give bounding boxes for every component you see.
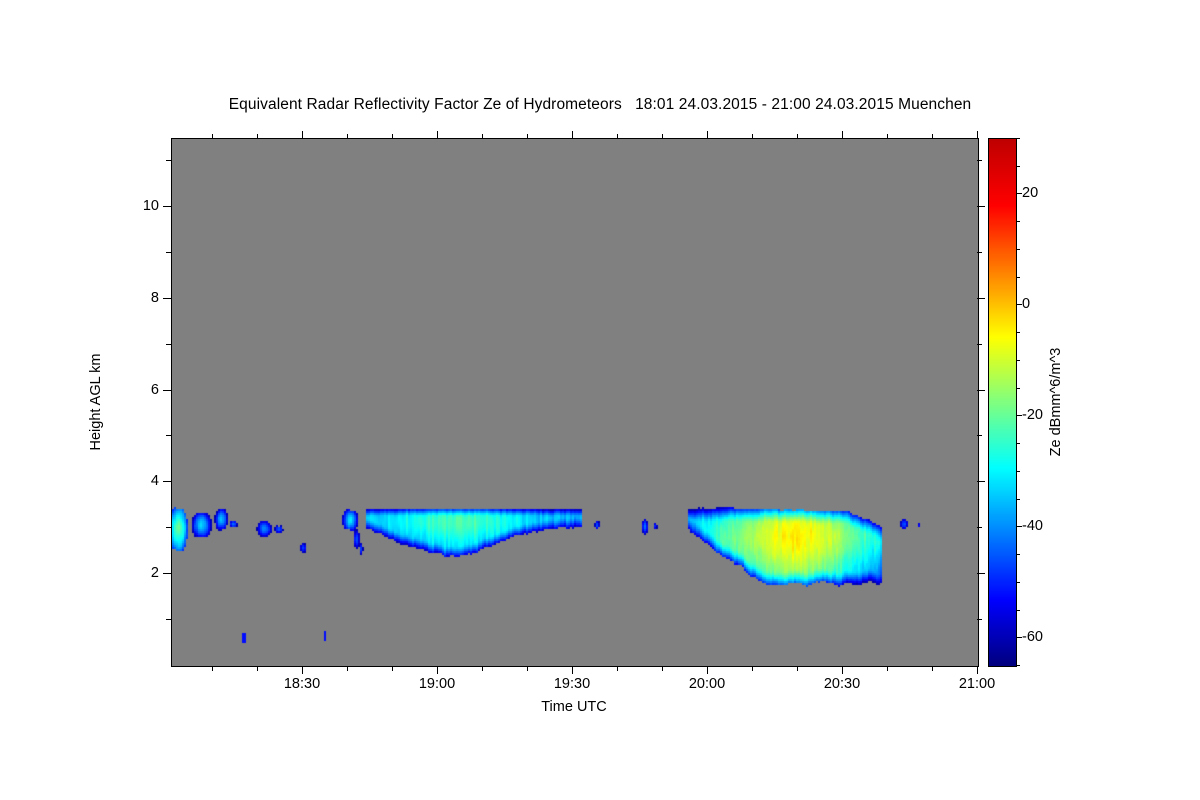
x-tick-minor-top [752,134,753,139]
colorbar-tick-minor [1016,138,1020,139]
colorbar-tick-label: -60 [1022,629,1043,645]
colorbar-tick-minor [1016,610,1020,611]
y-tick-minor-right [977,435,982,436]
y-tick-label: 8 [151,290,159,306]
colorbar-gradient [989,139,1016,666]
x-tick-minor [392,666,393,671]
y-tick-label: 6 [151,382,159,398]
x-tick-label: 19:30 [554,676,590,692]
y-tick-minor [166,344,171,345]
x-tick-label: 21:00 [959,676,995,692]
y-tick-label: 10 [143,198,159,214]
x-tick-minor [347,666,348,671]
reflectivity-heatmap [172,139,978,666]
x-tick-minor [932,666,933,671]
colorbar-tick-minor [1016,277,1020,278]
colorbar-tick-label: 0 [1022,296,1030,312]
y-tick-minor [166,435,171,436]
colorbar-tick-minor [1016,554,1020,555]
x-tick-minor-top [797,134,798,139]
x-tick-major [302,666,303,674]
x-tick-major [572,666,573,674]
y-tick-major-right [977,206,985,207]
y-tick-minor-right [977,160,982,161]
x-tick-minor [752,666,753,671]
x-tick-minor [257,666,258,671]
x-tick-minor [482,666,483,671]
x-tick-label: 20:00 [689,676,725,692]
x-tick-label: 19:00 [419,676,455,692]
x-tick-minor [617,666,618,671]
colorbar-tick-minor [1016,582,1020,583]
x-tick-major-top [437,131,438,139]
colorbar-tick-label: 20 [1022,185,1038,201]
x-tick-major [977,666,978,674]
colorbar-tick-minor [1016,443,1020,444]
x-tick-major-top [707,131,708,139]
x-tick-minor-top [527,134,528,139]
x-tick-major [842,666,843,674]
x-tick-minor-top [662,134,663,139]
y-tick-major-right [977,481,985,482]
x-tick-minor [797,666,798,671]
x-tick-label: 18:30 [284,676,320,692]
y-tick-minor-right [977,527,982,528]
y-tick-major [163,481,171,482]
y-tick-label: 2 [151,565,159,581]
colorbar-tick-minor [1016,665,1020,666]
colorbar-tick-minor [1016,166,1020,167]
plot-area [171,138,979,667]
y-tick-label: 4 [151,473,159,489]
y-tick-minor [166,252,171,253]
y-tick-major-right [977,298,985,299]
colorbar-tick-minor [1016,221,1020,222]
y-tick-minor-right [977,619,982,620]
y-tick-minor [166,527,171,528]
colorbar-tick-minor [1016,388,1020,389]
x-tick-major-top [572,131,573,139]
colorbar-tick-label: -40 [1022,518,1043,534]
x-tick-major-top [302,131,303,139]
x-tick-minor [527,666,528,671]
x-tick-minor-top [392,134,393,139]
radar-reflectivity-figure: Equivalent Radar Reflectivity Factor Ze … [0,0,1200,800]
colorbar-tick-minor [1016,360,1020,361]
colorbar-tick-minor [1016,332,1020,333]
y-tick-major [163,298,171,299]
x-tick-minor-top [887,134,888,139]
y-tick-major [163,390,171,391]
colorbar [988,138,1017,667]
page-title: Equivalent Radar Reflectivity Factor Ze … [0,96,1200,114]
y-tick-minor [166,160,171,161]
colorbar-tick-minor [1016,499,1020,500]
x-tick-minor-top [482,134,483,139]
x-tick-minor-top [932,134,933,139]
y-tick-major-right [977,573,985,574]
y-tick-minor-right [977,344,982,345]
x-tick-major [707,666,708,674]
x-tick-minor [887,666,888,671]
y-tick-major [163,573,171,574]
x-tick-minor [212,666,213,671]
colorbar-tick-minor [1016,471,1020,472]
x-tick-major-top [842,131,843,139]
x-tick-major-top [977,131,978,139]
x-tick-major [437,666,438,674]
x-tick-minor-top [617,134,618,139]
x-tick-minor-top [347,134,348,139]
y-axis-title: Height AGL km [88,354,104,451]
x-tick-label: 20:30 [824,676,860,692]
x-tick-minor-top [257,134,258,139]
y-tick-major-right [977,390,985,391]
x-axis-title: Time UTC [541,699,607,715]
y-tick-major [163,206,171,207]
colorbar-title: Ze dBmm^6/m^3 [1048,348,1064,457]
x-tick-minor [662,666,663,671]
y-tick-minor-right [977,252,982,253]
colorbar-tick-minor [1016,249,1020,250]
x-tick-minor-top [212,134,213,139]
colorbar-tick-label: -20 [1022,407,1043,423]
y-tick-minor [166,619,171,620]
